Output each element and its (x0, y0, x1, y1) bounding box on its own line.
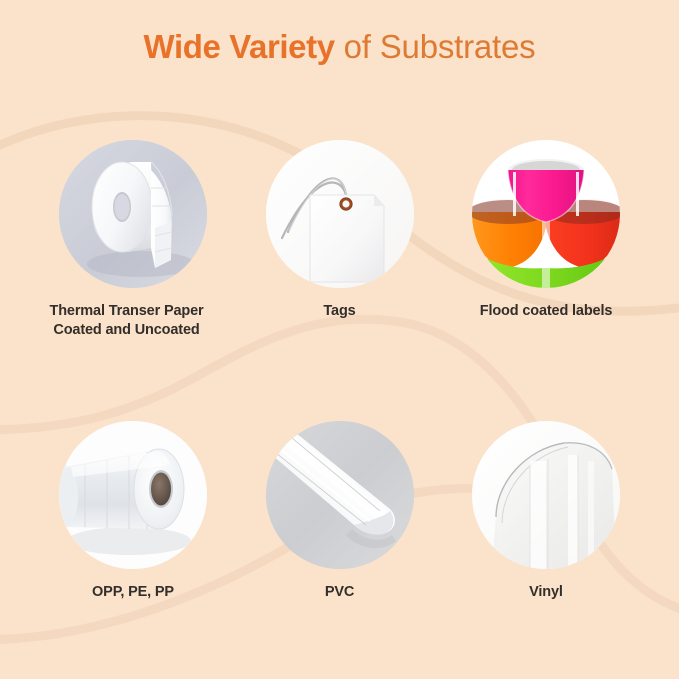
substrate-row-bottom: OPP, PE, PP (0, 421, 679, 602)
hang-tag-image (266, 140, 414, 288)
substrate-caption-flood-coated-labels: Flood coated labels (480, 302, 613, 321)
substrate-caption-pvc: PVC (325, 583, 354, 602)
clear-vinyl-sheet-circle (472, 421, 620, 569)
substrate-item-thermal-transfer-paper[interactable]: Thermal Transer Paper Coated and Uncoate… (38, 140, 228, 339)
substrates-infographic: Wide Variety of Substrates (0, 0, 679, 679)
page-title: Wide Variety of Substrates (0, 28, 679, 66)
clear-pvc-sheet-circle (266, 421, 414, 569)
substrate-item-opp-pe-pp[interactable]: OPP, PE, PP (38, 421, 228, 602)
clear-vinyl-sheet-image (472, 421, 620, 569)
substrate-item-flood-coated-labels[interactable]: Flood coated labels (451, 140, 641, 339)
substrate-item-pvc[interactable]: PVC (245, 421, 435, 602)
substrate-item-tags[interactable]: Tags (245, 140, 435, 339)
flood-coated-label-rolls-circle (472, 140, 620, 288)
page-title-light: of Substrates (335, 28, 536, 65)
plastic-film-roll-image (59, 421, 207, 569)
page-title-strong: Wide Variety (144, 28, 335, 65)
thermal-label-roll-image (59, 140, 207, 288)
flood-coated-label-rolls-image (472, 140, 620, 288)
substrate-caption-vinyl: Vinyl (529, 583, 563, 602)
substrate-item-vinyl[interactable]: Vinyl (451, 421, 641, 602)
substrate-caption-thermal-transfer-paper: Thermal Transer Paper Coated and Uncoate… (19, 302, 234, 339)
substrate-grid: Thermal Transer Paper Coated and Uncoate… (0, 140, 679, 602)
clear-pvc-sheet-image (266, 421, 414, 569)
substrate-row-top: Thermal Transer Paper Coated and Uncoate… (0, 140, 679, 339)
substrate-caption-opp-pe-pp: OPP, PE, PP (92, 583, 174, 602)
plastic-film-roll-circle (59, 421, 207, 569)
hang-tag-circle (266, 140, 414, 288)
substrate-caption-tags: Tags (323, 302, 355, 321)
thermal-label-roll-circle (59, 140, 207, 288)
